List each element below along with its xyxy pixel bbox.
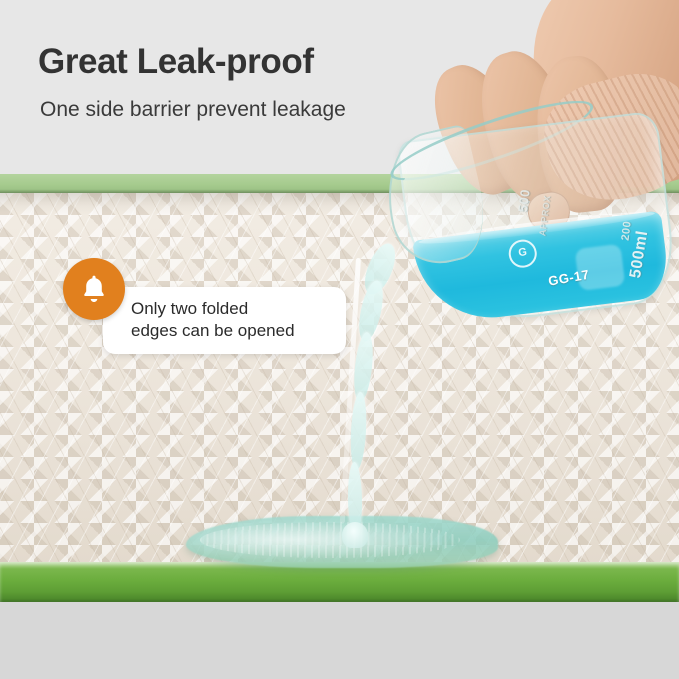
- water-puddle-splash: [200, 522, 460, 558]
- stream-segment: [355, 279, 387, 344]
- beaker-mark-200: 200: [620, 220, 634, 241]
- callout-line-2: edges can be opened: [131, 320, 341, 342]
- mat-front-green-border: [0, 562, 679, 602]
- beaker-mark-500: 500: [515, 188, 533, 213]
- callout-bubble: Only two folded edges can be opened: [103, 287, 346, 354]
- callout-text: Only two folded edges can be opened: [131, 298, 341, 342]
- stream-impact-tip: [342, 522, 368, 548]
- callout-line-1: Only two folded: [131, 298, 341, 320]
- product-feature-image: Great Leak-proof One side barrier preven…: [0, 0, 679, 679]
- bell-icon: [63, 258, 125, 320]
- background-bottom: [0, 600, 679, 679]
- pouring-water-stream: [334, 240, 414, 550]
- glass-beaker: 500 APPROX 200 GG-17 500ml G: [386, 92, 679, 336]
